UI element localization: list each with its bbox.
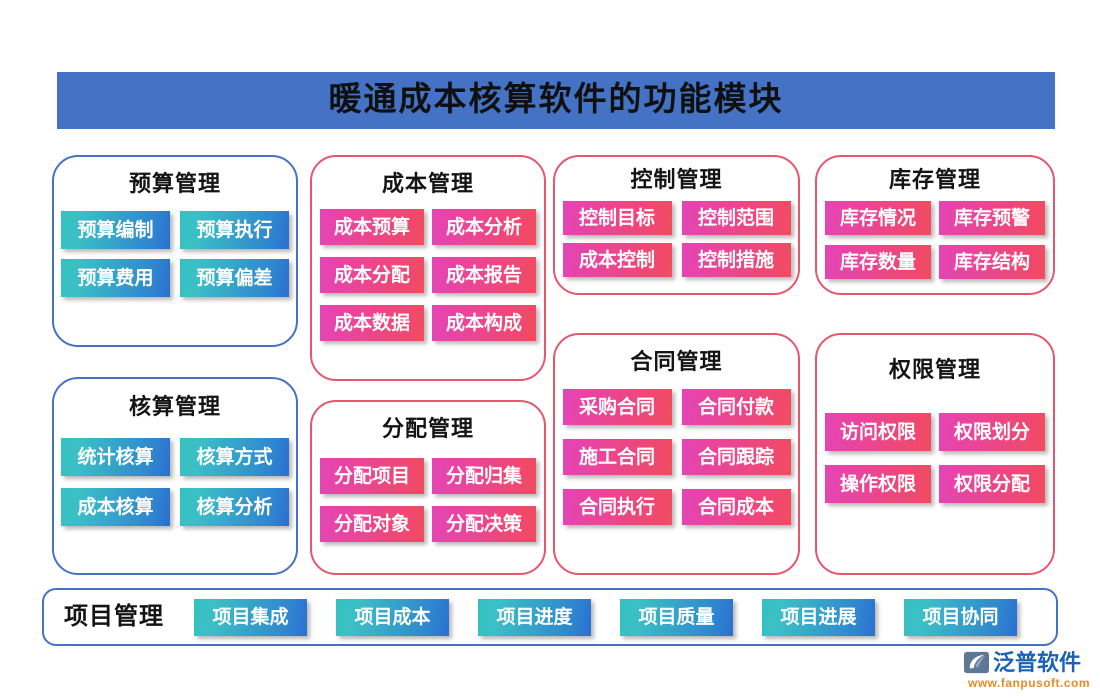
panel-project-management[interactable]: 项目管理 项目集成 项目成本 项目进度 项目质量 项目进展 项目协同	[42, 588, 1058, 646]
chip-cost-1[interactable]: 成本分析	[432, 209, 536, 245]
chip-project-3[interactable]: 项目质量	[620, 599, 733, 636]
chip-project-2[interactable]: 项目进度	[478, 599, 591, 636]
chip-row-project: 项目集成 项目成本 项目进度 项目质量 项目进展 项目协同	[194, 599, 1017, 636]
chip-allocation-0[interactable]: 分配项目	[320, 458, 424, 494]
chip-budget-1[interactable]: 预算执行	[180, 211, 289, 249]
chip-contract-5[interactable]: 合同成本	[682, 489, 791, 525]
chip-control-2[interactable]: 成本控制	[563, 243, 672, 277]
chip-cost-0[interactable]: 成本预算	[320, 209, 424, 245]
chip-contract-0[interactable]: 采购合同	[563, 389, 672, 425]
chip-contract-4[interactable]: 合同执行	[563, 489, 672, 525]
chip-inventory-0[interactable]: 库存情况	[825, 201, 931, 235]
panel-control-management[interactable]: 控制管理 控制目标 控制范围 成本控制 控制措施	[553, 155, 800, 295]
page-title: 暖通成本核算软件的功能模块	[329, 84, 784, 117]
panel-accounting-management[interactable]: 核算管理 统计核算 核算方式 成本核算 核算分析	[52, 377, 298, 575]
logo-brand-text: 泛普软件	[993, 652, 1081, 674]
chip-accounting-3[interactable]: 核算分析	[180, 488, 289, 526]
chip-budget-0[interactable]: 预算编制	[61, 211, 170, 249]
panel-contract-management[interactable]: 合同管理 采购合同 合同付款 施工合同 合同跟踪 合同执行 合同成本	[553, 333, 800, 575]
chip-grid-permission: 访问权限 权限划分 操作权限 权限分配	[824, 413, 1046, 503]
fanpu-logo-icon	[963, 650, 990, 675]
chip-budget-3[interactable]: 预算偏差	[180, 259, 289, 297]
panel-title-inventory: 库存管理	[889, 169, 981, 191]
chip-budget-2[interactable]: 预算费用	[61, 259, 170, 297]
panel-allocation-management[interactable]: 分配管理 分配项目 分配归集 分配对象 分配决策	[310, 400, 546, 575]
chip-project-4[interactable]: 项目进展	[762, 599, 875, 636]
chip-allocation-3[interactable]: 分配决策	[432, 506, 536, 542]
chip-permission-2[interactable]: 操作权限	[825, 465, 931, 503]
chip-control-1[interactable]: 控制范围	[682, 201, 791, 235]
chip-cost-2[interactable]: 成本分配	[320, 257, 424, 293]
chip-grid-cost: 成本预算 成本分析 成本分配 成本报告 成本数据 成本构成	[320, 209, 536, 341]
chip-permission-1[interactable]: 权限划分	[939, 413, 1045, 451]
chip-inventory-3[interactable]: 库存结构	[939, 245, 1045, 279]
chip-control-0[interactable]: 控制目标	[563, 201, 672, 235]
logo-top-row: 泛普软件	[963, 650, 1081, 675]
title-banner: 暖通成本核算软件的功能模块	[57, 72, 1055, 129]
chip-cost-4[interactable]: 成本数据	[320, 305, 424, 341]
panel-cost-management[interactable]: 成本管理 成本预算 成本分析 成本分配 成本报告 成本数据 成本构成	[310, 155, 546, 381]
chip-allocation-1[interactable]: 分配归集	[432, 458, 536, 494]
chip-inventory-1[interactable]: 库存预警	[939, 201, 1045, 235]
panel-title-allocation: 分配管理	[382, 418, 474, 440]
chip-cost-5[interactable]: 成本构成	[432, 305, 536, 341]
chip-accounting-2[interactable]: 成本核算	[61, 488, 170, 526]
chip-control-3[interactable]: 控制措施	[682, 243, 791, 277]
chip-cost-3[interactable]: 成本报告	[432, 257, 536, 293]
chip-grid-allocation: 分配项目 分配归集 分配对象 分配决策	[320, 458, 536, 542]
panel-inventory-management[interactable]: 库存管理 库存情况 库存预警 库存数量 库存结构	[815, 155, 1055, 295]
chip-grid-accounting: 统计核算 核算方式 成本核算 核算分析	[61, 438, 289, 526]
panel-budget-management[interactable]: 预算管理 预算编制 预算执行 预算费用 预算偏差	[52, 155, 298, 347]
infographic-canvas: 暖通成本核算软件的功能模块 预算管理 预算编制 预算执行 预算费用 预算偏差 核…	[0, 0, 1100, 700]
chip-inventory-2[interactable]: 库存数量	[825, 245, 931, 279]
chip-grid-contract: 采购合同 合同付款 施工合同 合同跟踪 合同执行 合同成本	[563, 389, 791, 525]
panel-title-cost: 成本管理	[382, 173, 474, 195]
panel-title-contract: 合同管理	[630, 351, 722, 373]
chip-accounting-1[interactable]: 核算方式	[180, 438, 289, 476]
panel-title-project: 项目管理	[64, 605, 164, 629]
chip-grid-budget: 预算编制 预算执行 预算费用 预算偏差	[61, 211, 289, 297]
chip-project-1[interactable]: 项目成本	[336, 599, 449, 636]
chip-project-5[interactable]: 项目协同	[904, 599, 1017, 636]
panel-title-control: 控制管理	[630, 169, 722, 191]
brand-logo: 泛普软件 www.fanpusoft.com	[963, 650, 1095, 696]
panel-permission-management[interactable]: 权限管理 访问权限 权限划分 操作权限 权限分配	[815, 333, 1055, 575]
chip-grid-inventory: 库存情况 库存预警 库存数量 库存结构	[824, 201, 1046, 279]
chip-contract-1[interactable]: 合同付款	[682, 389, 791, 425]
logo-url-text: www.fanpusoft.com	[968, 677, 1090, 689]
panel-title-permission: 权限管理	[889, 359, 981, 381]
chip-allocation-2[interactable]: 分配对象	[320, 506, 424, 542]
chip-permission-3[interactable]: 权限分配	[939, 465, 1045, 503]
panel-title-budget: 预算管理	[129, 173, 221, 195]
chip-permission-0[interactable]: 访问权限	[825, 413, 931, 451]
chip-contract-2[interactable]: 施工合同	[563, 439, 672, 475]
chip-grid-control: 控制目标 控制范围 成本控制 控制措施	[563, 201, 791, 277]
chip-accounting-0[interactable]: 统计核算	[61, 438, 170, 476]
chip-project-0[interactable]: 项目集成	[194, 599, 307, 636]
chip-contract-3[interactable]: 合同跟踪	[682, 439, 791, 475]
panel-title-accounting: 核算管理	[129, 396, 221, 418]
